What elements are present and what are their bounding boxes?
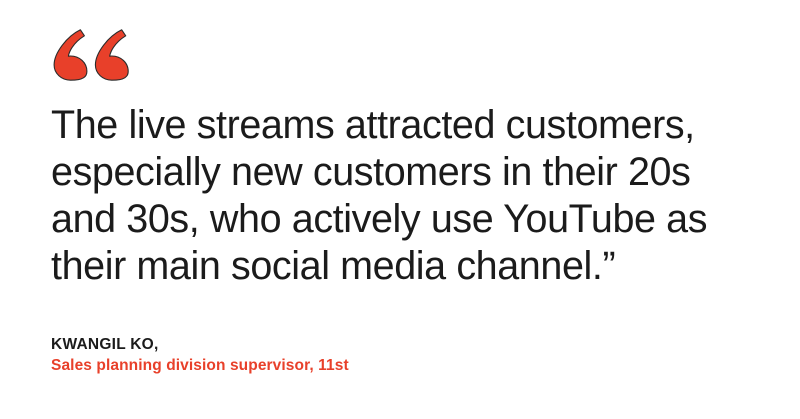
double-opening-quote-icon [50,29,134,81]
attribution: KWANGIL KO, Sales planning division supe… [51,334,349,376]
attribution-name: KWANGIL KO, [51,334,349,355]
pull-quote-card: The live streams attracted customers, es… [0,0,800,419]
attribution-role: Sales planning division supervisor, 11st [51,355,349,376]
quote-text: The live streams attracted customers, es… [51,102,751,290]
